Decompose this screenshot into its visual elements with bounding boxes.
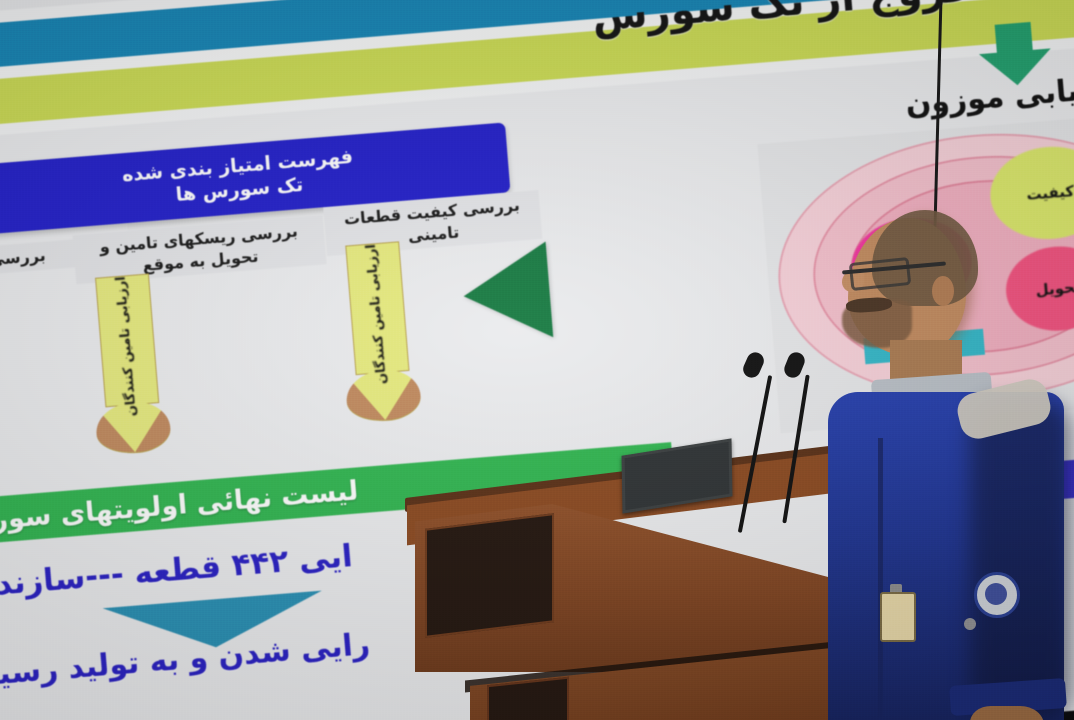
speaker [820, 200, 1074, 720]
speaker-ear [932, 276, 954, 306]
arrow-label-1: ارزیابی تامین کنندگان [85, 289, 168, 405]
emblem-inner [985, 583, 1007, 605]
podium-panel-lower [487, 677, 569, 720]
speaker-hand [970, 706, 1044, 720]
uniform-shading [970, 400, 1070, 720]
uniform-placket [878, 438, 883, 718]
green-left-triangle-icon [460, 242, 553, 345]
uniform-emblem-icon [974, 572, 1020, 618]
yellow-down-arrow-2: ارزیابی تامین کنندگان [334, 241, 422, 424]
yellow-down-arrow-1: ارزیابی تامین کنندگان [84, 273, 172, 456]
photo-scene: خروج از تک سورس فهرست امتیاز بندی شده تک… [0, 0, 1074, 720]
uniform-button [964, 618, 976, 630]
podium-panel-upper [425, 513, 554, 638]
arrow-label-2: ارزیابی تامین کنندگان [336, 257, 419, 373]
id-badge [880, 592, 916, 642]
